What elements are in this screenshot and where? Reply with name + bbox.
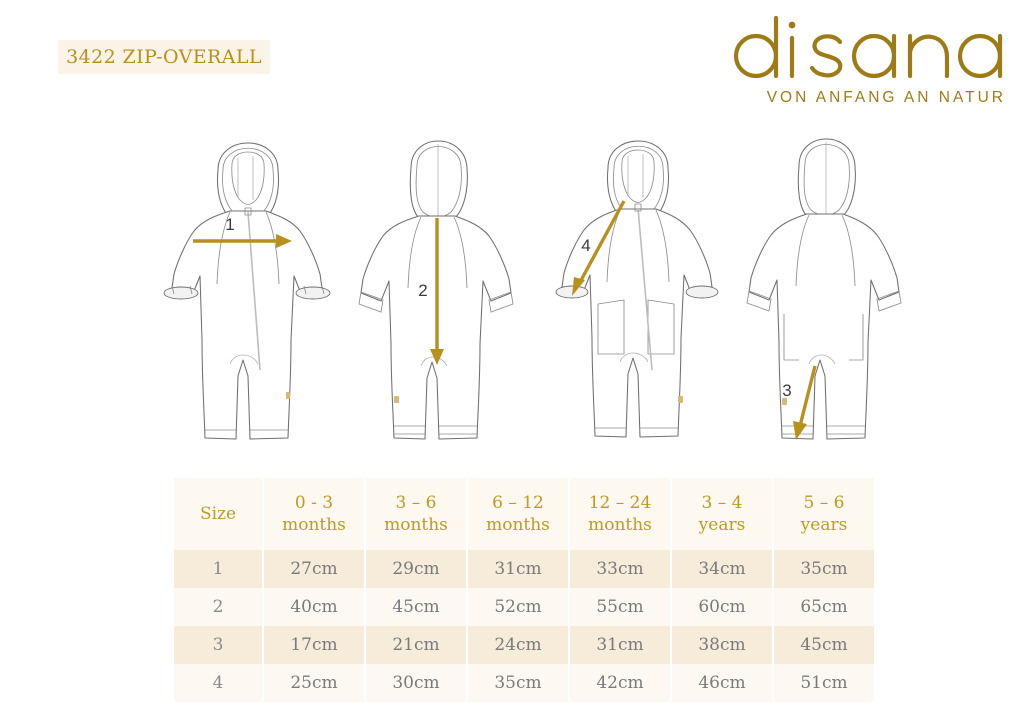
cell-value: 33cm [570, 550, 670, 588]
cell-value: 60cm [672, 588, 772, 626]
brand-logo: VON ANFANG AN NATUR [716, 12, 1006, 107]
product-title-band: 3422 ZIP-OVERALL [58, 40, 270, 74]
table-row: 3 17cm 21cm 24cm 31cm 38cm 45cm [174, 626, 874, 664]
overall-body-back-2 [747, 139, 901, 439]
column-header-3-4-years: 3 – 4 years [672, 478, 772, 550]
measure-label-1: 1 [225, 215, 234, 234]
cell-value: 34cm [672, 550, 772, 588]
cell-value: 31cm [468, 550, 568, 588]
column-header-size: Size [174, 478, 262, 550]
column-header-6-12-months: 6 – 12 months [468, 478, 568, 550]
cell-value: 45cm [366, 588, 466, 626]
cell-value: 55cm [570, 588, 670, 626]
measure-label-3: 3 [782, 381, 791, 400]
column-header-3-6-months: 3 – 6 months [366, 478, 466, 550]
table-row: 2 40cm 45cm 52cm 55cm 60cm 65cm [174, 588, 874, 626]
table-row: 1 27cm 29cm 31cm 33cm 34cm 35cm [174, 550, 874, 588]
cell-value: 40cm [264, 588, 364, 626]
garment-illustrations: 1 [0, 108, 1024, 460]
brand-tagline: VON ANFANG AN NATUR [716, 89, 1006, 107]
overall-body-front [164, 143, 330, 439]
column-header-12-24-months: 12 – 24 months [570, 478, 670, 550]
cell-value: 45cm [774, 626, 874, 664]
cell-value: 30cm [366, 664, 466, 702]
cell-value: 51cm [774, 664, 874, 702]
page-title: 3422 ZIP-OVERALL [66, 46, 262, 68]
figure-front-chest: 1 [148, 108, 348, 460]
cell-value: 42cm [570, 664, 670, 702]
cell-size: 2 [174, 588, 262, 626]
cell-value: 17cm [264, 626, 364, 664]
cell-value: 29cm [366, 550, 466, 588]
cell-value: 65cm [774, 588, 874, 626]
overall-body-front-pockets [556, 141, 718, 437]
cell-value: 35cm [468, 664, 568, 702]
cell-value: 27cm [264, 550, 364, 588]
cell-size: 4 [174, 664, 262, 702]
size-chart-table: Size 0 - 3 months 3 – 6 months 6 – 12 mo… [172, 478, 876, 702]
table-row: 4 25cm 30cm 35cm 42cm 46cm 51cm [174, 664, 874, 702]
table-header-row: Size 0 - 3 months 3 – 6 months 6 – 12 mo… [174, 478, 874, 550]
brand-wordmark [716, 12, 1006, 82]
cell-value: 38cm [672, 626, 772, 664]
figure-front-sleeve: 4 [536, 108, 736, 460]
figure-back-length: 2 [337, 108, 537, 460]
cell-size: 3 [174, 626, 262, 664]
cell-size: 1 [174, 550, 262, 588]
cell-value: 24cm [468, 626, 568, 664]
measure-label-2: 2 [418, 281, 427, 300]
column-header-0-3-months: 0 - 3 months [264, 478, 364, 550]
cell-value: 31cm [570, 626, 670, 664]
measure-label-4: 4 [581, 236, 590, 255]
cell-value: 21cm [366, 626, 466, 664]
cell-value: 52cm [468, 588, 568, 626]
cell-value: 25cm [264, 664, 364, 702]
cell-value: 35cm [774, 550, 874, 588]
cell-value: 46cm [672, 664, 772, 702]
figure-back-inseam: 3 [727, 108, 927, 460]
column-header-5-6-years: 5 – 6 years [774, 478, 874, 550]
